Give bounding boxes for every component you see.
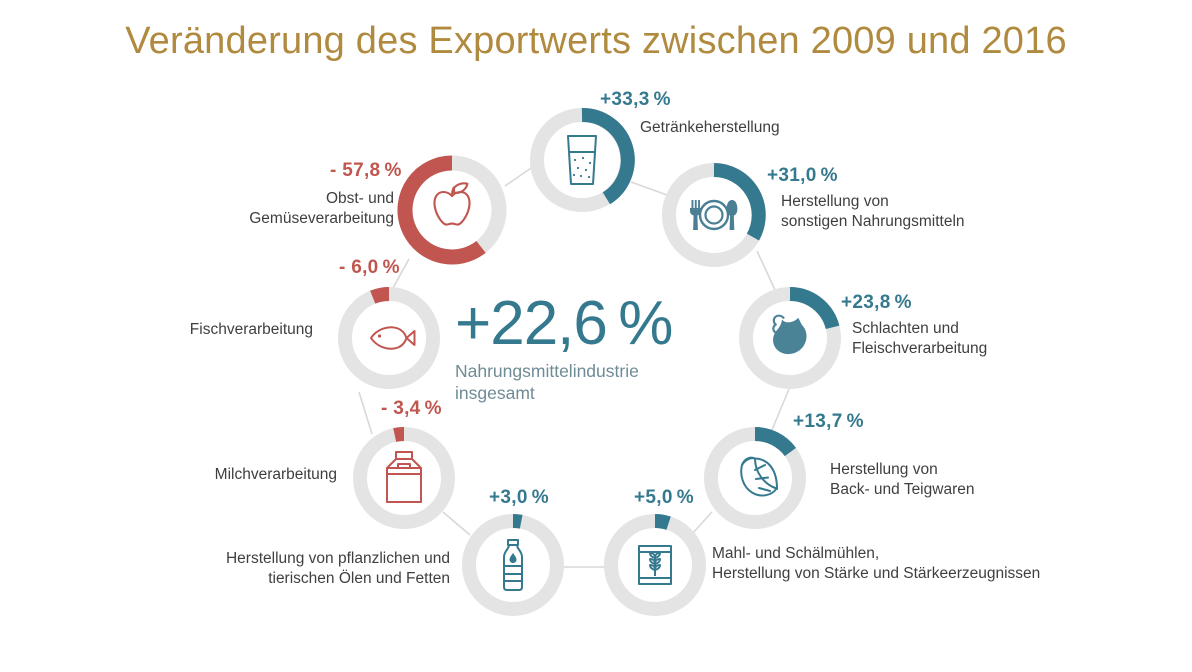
- label-backwaren: Herstellung von Back- und Teigwaren: [830, 460, 1130, 500]
- chicken-leg-icon: [773, 316, 806, 354]
- donut-obst-gemuese: [405, 163, 499, 257]
- donut-getraenke: [537, 115, 628, 205]
- donut-track: [345, 294, 433, 382]
- donut-arc: [755, 434, 790, 452]
- donut-arc: [513, 521, 521, 522]
- infographic-canvas: Veränderung des Exportwerts zwischen 200…: [0, 0, 1192, 672]
- water-glass-icon: [568, 136, 596, 184]
- croissant-icon: [741, 458, 777, 496]
- value-milch: - 3,4 %: [381, 398, 442, 420]
- value-fisch: - 6,0 %: [339, 257, 400, 279]
- donut-arc: [655, 521, 669, 523]
- label-muehlen: Mahl- und Schälmühlen, Herstellung von S…: [712, 544, 1112, 584]
- donut-arc: [405, 163, 481, 257]
- donut-arc: [395, 434, 404, 435]
- donut-arc: [582, 115, 628, 198]
- connector-glass-cutlery: [631, 182, 667, 195]
- donut-sonstige: [669, 170, 759, 260]
- donut-arc: [373, 294, 389, 297]
- value-sonstige: +31,0 %: [767, 165, 838, 187]
- connector-bottle-milk: [443, 512, 470, 535]
- label-fleisch: Schlachten und Fleischverarbeitung: [852, 319, 1152, 359]
- donut-backwaren: [711, 434, 799, 522]
- bottle-icon: [504, 540, 522, 590]
- value-obst-gemuese: - 57,8 %: [330, 160, 402, 182]
- value-backwaren: +13,7 %: [793, 411, 864, 433]
- connector-chicken-croissant: [772, 389, 789, 430]
- fish-icon: [371, 327, 415, 349]
- label-sonstige: Herstellung von sonstigen Nahrungsmittel…: [781, 192, 1081, 232]
- milk-carton-icon: [387, 452, 421, 502]
- connector-cutlery-chicken: [757, 251, 775, 290]
- label-fisch: Fischverarbeitung: [60, 320, 313, 340]
- donut-muehlen: [611, 521, 699, 609]
- cutlery-plate-icon: [690, 200, 737, 230]
- connector-milk-fish: [359, 392, 372, 434]
- donut-fleisch: [746, 294, 834, 382]
- label-obst-gemuese: Obst- und Gemüseverarbeitung: [74, 189, 394, 229]
- donut-track: [360, 434, 448, 522]
- donut-oele-fette: [469, 521, 557, 609]
- label-milch: Milchverarbeitung: [60, 465, 337, 485]
- value-muehlen: +5,0 %: [634, 487, 694, 509]
- connector-croissant-grain: [692, 512, 712, 534]
- donut-milch: [360, 434, 448, 522]
- connector-apple-glass: [505, 166, 534, 186]
- center-total-caption: Nahrungsmittelindustrie insgesamt: [455, 361, 715, 405]
- center-total-value: +22,6 %: [455, 295, 715, 354]
- label-getraenke: Getränkeherstellung: [640, 118, 940, 138]
- apple-icon: [434, 183, 469, 224]
- center-total: +22,6 % Nahrungsmittelindustrie insgesam…: [455, 295, 715, 405]
- label-oele-fette: Herstellung von pflanzlichen und tierisc…: [120, 549, 450, 589]
- donut-fisch: [345, 294, 433, 382]
- value-fleisch: +23,8 %: [841, 292, 912, 314]
- value-oele-fette: +3,0 %: [489, 487, 549, 509]
- value-getraenke: +33,3 %: [600, 89, 671, 111]
- grain-sack-icon: [639, 546, 671, 584]
